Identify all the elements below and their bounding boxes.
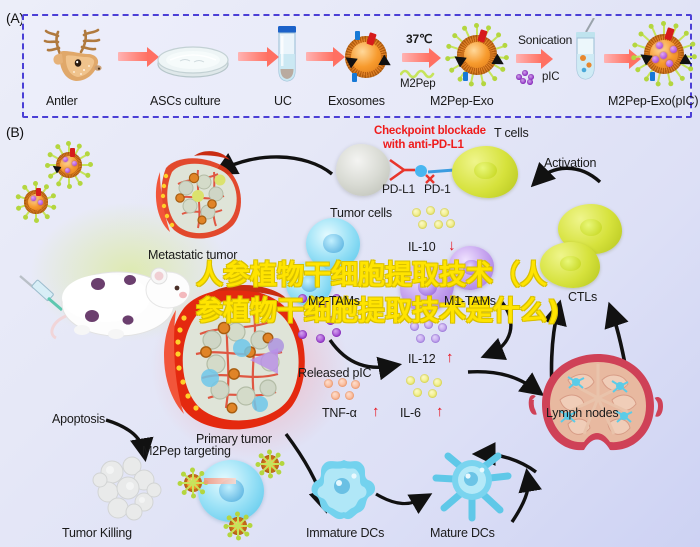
mature-dc-icon [428, 446, 516, 526]
m2pep-peptide-label: M2Pep [400, 78, 435, 90]
process-arrow-1 [118, 52, 148, 61]
immature-dc-icon [306, 452, 384, 524]
il6-label: IL-6 [400, 406, 421, 420]
metastatic-tumor-illustration [146, 144, 260, 248]
sonication-condition-label: Sonication [518, 33, 572, 47]
process-arrow-6 [604, 54, 630, 63]
injected-exosome-1 [48, 144, 90, 186]
targeting-exosome-1 [180, 470, 206, 496]
primary-tumor-illustration [150, 282, 320, 440]
il10-label: IL-10 [408, 240, 436, 254]
m1-tam-cell-2 [448, 246, 494, 290]
metastatic-tumor-label: Metastatic tumor [148, 248, 237, 262]
tnf-alpha-cytokine-dots [322, 378, 366, 404]
membrane-protein-blue-1 [463, 72, 468, 81]
targeted-m2-macrophage [198, 460, 264, 522]
deer-head-icon [38, 24, 112, 86]
injected-exosome-2 [18, 184, 54, 220]
membrane-protein-blue-2 [355, 31, 360, 40]
il6-cytokine-dots [404, 374, 448, 402]
apoptotic-tumor-cell-icon [88, 452, 166, 524]
panel-a-container: Antler ASCs culture [22, 14, 692, 118]
m2-tams-label: M2-TAMs [308, 294, 360, 308]
panel-a-step-label-uc: UC [274, 94, 292, 108]
il12-cytokine-dots [408, 320, 454, 350]
checkpoint-blockade-line1: Checkpoint blockade [374, 125, 486, 137]
tumor-killing-label: Tumor Killing [62, 526, 132, 540]
t-cell [452, 146, 518, 198]
il12-up-arrow: ↑ [446, 350, 454, 365]
panel-a-step-label-ascs: ASCs culture [150, 94, 221, 108]
sonicator-probe-icon [572, 18, 600, 88]
il10-down-arrow: ↓ [448, 238, 456, 253]
panel-a-step-label-m2pep-exo-pic: M2Pep-Exo(pIC) [608, 94, 698, 108]
mature-dcs-label: Mature DCs [430, 526, 495, 540]
targeting-link [204, 478, 236, 484]
il6-up-arrow: ↑ [436, 404, 444, 419]
ctl-cell-2 [540, 242, 600, 288]
il12-label: IL-12 [408, 352, 436, 366]
process-arrow-5 [516, 54, 542, 63]
tnf-alpha-up-arrow: ↑ [372, 404, 380, 419]
panel-a-step-label-antler: Antler [46, 94, 77, 108]
centrifuge-tube-icon [274, 24, 300, 86]
tnf-alpha-label: TNF-α [322, 406, 357, 420]
panel-b-container: Metastatic tumor [0, 122, 700, 547]
checkpoint-blockade-line2: with anti-PD-L1 [383, 139, 464, 151]
targeting-exosome-3 [226, 514, 250, 538]
exosome-icon [340, 31, 392, 83]
petri-dish-icon [154, 42, 232, 82]
peptide-modified-exosome-icon [448, 26, 506, 84]
apoptosis-label: Apoptosis [52, 412, 105, 426]
m1-tams-label: M1-TAMs [444, 294, 496, 308]
targeting-exosome-2 [258, 452, 282, 476]
scientific-figure: (A) [0, 0, 700, 547]
membrane-protein-blue-1 [352, 73, 357, 82]
process-arrow-2 [238, 52, 268, 61]
pic-loaded-exosome-icon [634, 24, 694, 84]
pd-l1-label: PD-L1 [382, 182, 415, 196]
pic-cargo-dots [516, 70, 538, 84]
lymph-nodes-label: Lymph nodes [546, 406, 618, 420]
m2pep-squiggle-icon [400, 66, 438, 78]
panel-a-step-label-exosomes: Exosomes [328, 94, 385, 108]
process-arrow-3 [306, 52, 334, 61]
activation-label: Activation [544, 156, 596, 170]
panel-a-step-label-m2pep-exo: M2Pep-Exo [430, 94, 494, 108]
ctls-label: CTLs [568, 290, 597, 304]
process-arrow-4 [402, 53, 430, 62]
pd-1-label: PD-1 [424, 182, 451, 196]
m2pep-targeting-label: M2Pep targeting [142, 444, 231, 458]
t-cells-label: T cells [494, 126, 529, 140]
il10-cytokine-dots [412, 206, 458, 236]
immature-dcs-label: Immature DCs [306, 526, 384, 540]
membrane-protein-blue-1 [650, 72, 655, 81]
pic-cargo-label: pIC [542, 71, 559, 83]
temperature-condition-label: 37℃ [406, 32, 432, 46]
